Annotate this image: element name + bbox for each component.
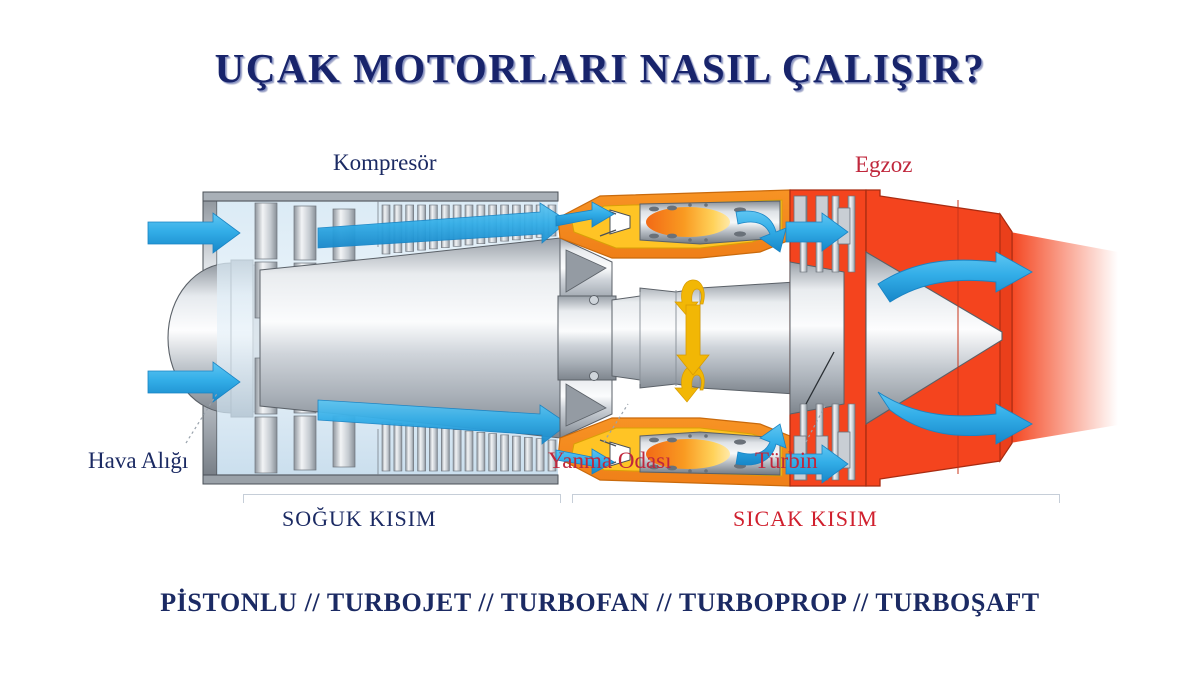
slide-canvas: UÇAK MOTORLARI NASIL ÇALIŞIR? xyxy=(0,0,1200,675)
engine-types-strip: PİSTONLU // TURBOJET // TURBOFAN // TURB… xyxy=(0,588,1200,618)
label-turbine: Türbin xyxy=(755,448,818,474)
label-combustion-chamber: Yanma Odası xyxy=(548,448,672,474)
diffuser-struts xyxy=(558,238,616,438)
exhaust-plume xyxy=(1010,232,1118,443)
section-label-hot: SICAK KISIM xyxy=(733,506,878,532)
jet-engine-diagram xyxy=(0,0,1200,675)
section-label-cold: SOĞUK KISIM xyxy=(282,506,437,532)
bracket-hot-tick-right xyxy=(1059,494,1060,503)
bracket-cold-tick-left xyxy=(243,494,244,503)
exhaust-nozzle xyxy=(866,190,1012,486)
bracket-hot-section xyxy=(572,494,1060,495)
bracket-cold-section xyxy=(243,494,561,495)
bracket-hot-tick-left xyxy=(572,494,573,503)
label-compressor: Kompresör xyxy=(333,150,436,176)
label-air-intake: Hava Alığı xyxy=(88,448,188,474)
bracket-cold-tick-right xyxy=(560,494,561,503)
label-exhaust: Egzoz xyxy=(855,152,912,178)
